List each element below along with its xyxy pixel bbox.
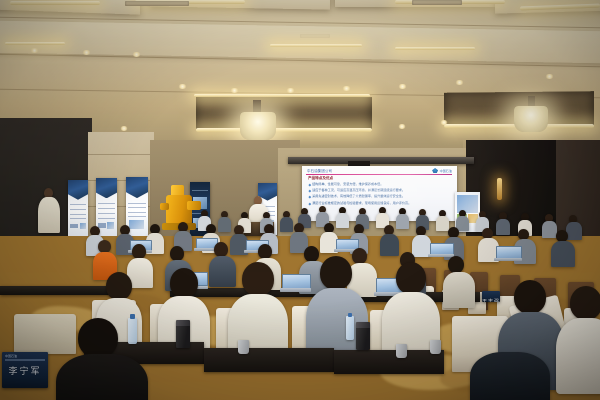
- equipment-stub: [160, 203, 169, 210]
- attendee-table: [334, 350, 444, 374]
- downlight: [230, 88, 239, 93]
- slide-bullet: 结构简单、性能可靠、安装方便，维护保养成本低。: [309, 183, 452, 187]
- slide-logo-text: 中国石油: [440, 169, 452, 173]
- paper-cup[interactable]: [430, 340, 441, 354]
- bullet-diamond-icon: [309, 190, 311, 192]
- conference-hall-photo: 中石油集团公司 中国石油 产品特点及优点 结构简单、性能可靠、安装方便，维护保养…: [0, 0, 600, 400]
- equipment-arm: [187, 201, 201, 210]
- cove-light: [194, 94, 370, 97]
- water-bottle[interactable]: [346, 316, 354, 340]
- paper-cup[interactable]: [238, 340, 249, 354]
- downlight: [455, 80, 464, 85]
- slide-bullet: 适应于各种工况，可适应高温高压环境，并满足长期连续运行要求。: [309, 189, 452, 193]
- thermos-cup[interactable]: [356, 322, 370, 350]
- laptop[interactable]: [196, 238, 216, 251]
- laptop[interactable]: [430, 243, 452, 257]
- downlight: [398, 84, 407, 89]
- downlight: [132, 52, 141, 57]
- cove-light: [196, 128, 372, 132]
- name-card-right-aisle: 王志强: [482, 291, 500, 302]
- slide-bullet-list: 结构简单、性能可靠、安装方便，维护保养成本低。 适应于各种工况，可适应高温高压环…: [309, 183, 452, 208]
- wall-sconce: [497, 178, 502, 200]
- downlight: [30, 48, 39, 53]
- slide-title-bar: 中石油集团公司: [307, 169, 332, 173]
- crystal-chandelier-center: [240, 112, 276, 140]
- water-bottle[interactable]: [128, 318, 137, 344]
- ceiling-recess: [196, 95, 372, 131]
- slide-bullet-text: 采用先进密封技术，有效降低了介质泄漏率，提升整体运行安全性。: [312, 195, 405, 199]
- rollup-banner-1: [68, 180, 88, 238]
- laptop[interactable]: [496, 246, 520, 261]
- name-card-subtitle: [5, 359, 45, 361]
- projection-screen-frame: [288, 157, 474, 164]
- laptop[interactable]: [282, 274, 309, 292]
- bullet-diamond-icon: [309, 196, 311, 198]
- attendee-table: [204, 348, 334, 372]
- ceiling-vent: [412, 0, 462, 5]
- name-card-foreground: 中国石油 李宁军: [2, 352, 48, 388]
- attendee-table: [0, 286, 120, 295]
- thermos-cup[interactable]: [176, 320, 190, 348]
- cove-light: [395, 47, 475, 50]
- bullet-diamond-icon: [309, 184, 311, 186]
- downlight: [120, 126, 128, 131]
- slide-bullet-text: 结构简单、性能可靠、安装方便，维护保养成本低。: [312, 183, 383, 187]
- name-card-text: 李宁军: [2, 364, 48, 377]
- downlight: [178, 84, 187, 89]
- cove-light: [5, 42, 65, 45]
- cove-light: [10, 1, 100, 5]
- equipment-body: [166, 195, 192, 225]
- downlight: [398, 124, 406, 129]
- bullet-diamond-icon: [309, 202, 311, 204]
- downlight: [342, 86, 351, 91]
- ceiling-band: [0, 21, 600, 64]
- paper-cup[interactable]: [396, 344, 407, 358]
- slide-bullet-text: 适应于各种工况，可适应高温高压环境，并满足长期连续运行要求。: [312, 189, 405, 193]
- name-card-org: 中国石油: [5, 354, 17, 358]
- slide-heading: 产品特点及优点: [308, 176, 333, 181]
- downlight: [440, 120, 448, 125]
- crystal-chandelier-right: [514, 106, 548, 132]
- slide-rule: [306, 174, 452, 175]
- slide-bullet-text: 满足行业标准规定的试验与检验要求，现场使用反馈良好，用户评价高。: [312, 202, 411, 206]
- name-card-text: 王志强: [482, 298, 500, 302]
- attendee-torso: [38, 197, 60, 233]
- petro-logo-icon: [432, 168, 438, 173]
- chair-cover: [14, 314, 76, 354]
- cove-light: [270, 44, 362, 47]
- slide-bullet: 满足行业标准规定的试验与检验要求，现场使用反馈良好，用户评价高。: [309, 202, 452, 206]
- downlight: [82, 50, 91, 55]
- ceiling-vent: [125, 1, 189, 6]
- slide-bullet: 采用先进密封技术，有效降低了介质泄漏率，提升整体运行安全性。: [309, 195, 452, 199]
- slide-logo: 中国石油: [432, 168, 452, 173]
- downlight: [545, 74, 554, 79]
- downlight: [286, 88, 295, 93]
